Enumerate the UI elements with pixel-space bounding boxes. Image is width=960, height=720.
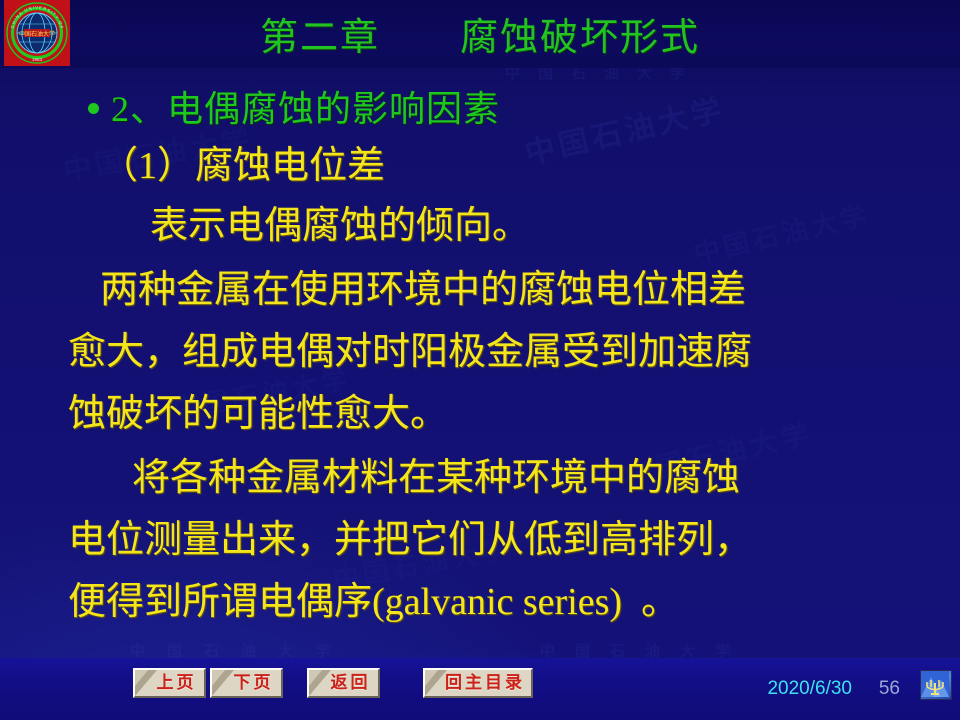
slide-body: 2、电偶腐蚀的影响因素 （1）腐蚀电位差 表示电偶腐蚀的倾向。 两种金属在使用环…	[0, 68, 960, 648]
bullet-item-label: 2、电偶腐蚀的影响因素	[111, 80, 500, 132]
prev-page-button[interactable]: 上页	[133, 668, 206, 698]
main-menu-button[interactable]: 回主目录	[423, 668, 533, 698]
body-line-5: 蚀破坏的可能性愈大。	[68, 382, 448, 437]
university-logo: 中国石油大学 CHINA UNIVERSITY OF PETROLEUM 195…	[4, 0, 70, 66]
emblem-tree-icon	[921, 671, 949, 697]
prev-page-button-label: 上页	[135, 670, 204, 696]
next-page-button-label: 下页	[212, 670, 281, 696]
body-line-2: 表示电偶腐蚀的倾向。	[150, 194, 530, 249]
body-line-7: 电位测量出来，并把它们从低到高排列，	[68, 508, 752, 563]
body-line-8: 便得到所谓电偶序(galvanic series) 。	[68, 570, 679, 625]
back-button[interactable]: 返回	[307, 668, 380, 698]
bullet-list-item: 2、电偶腐蚀的影响因素	[88, 80, 500, 132]
body-line-4: 愈大，组成电偶对时阳极金属受到加速腐	[68, 320, 752, 375]
presentation-slide: 中国石油大学 中国石油大学 中国石油大学 中国石油大学 中国石油大学 中国石油大…	[0, 0, 960, 720]
slide-page-number: 56	[879, 678, 900, 700]
body-line-1: （1）腐蚀电位差	[100, 134, 385, 189]
body-line-6: 将各种金属材料在某种环境中的腐蚀	[132, 446, 740, 501]
svg-text:中国石油大学: 中国石油大学	[19, 30, 55, 38]
page-title: 第二章 腐蚀破坏形式	[0, 6, 960, 61]
university-logo-icon: 中国石油大学 CHINA UNIVERSITY OF PETROLEUM 195…	[4, 0, 70, 66]
back-button-label: 返回	[309, 670, 378, 696]
slide-footer: 上页 下页 返回 回主目录 2020/6/30 56	[0, 658, 960, 720]
decorative-emblem-icon	[920, 670, 952, 700]
svg-text:1953: 1953	[32, 57, 43, 62]
slide-date: 2020/6/30	[767, 678, 852, 700]
bullet-dot-icon	[88, 103, 99, 114]
main-menu-button-label: 回主目录	[425, 670, 531, 696]
body-line-3: 两种金属在使用环境中的腐蚀电位相差	[100, 258, 746, 313]
slide-title-bar: 第二章 腐蚀破坏形式	[0, 0, 960, 68]
next-page-button[interactable]: 下页	[210, 668, 283, 698]
